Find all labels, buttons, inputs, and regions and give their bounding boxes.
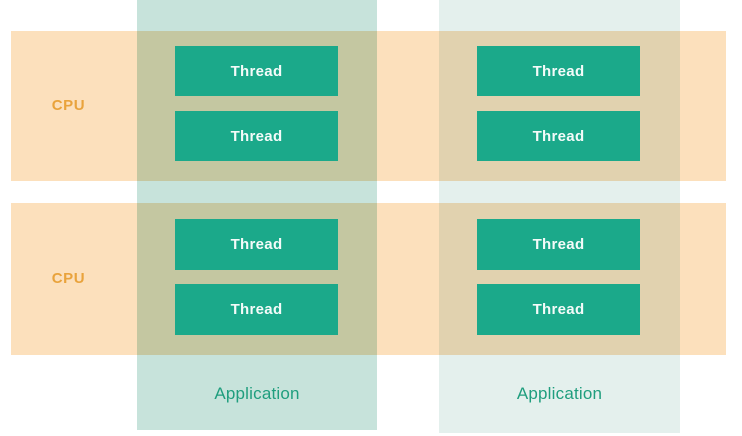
thread-label: Thread [533, 64, 585, 79]
cpu-label-2: CPU [11, 270, 126, 287]
thread-label: Thread [533, 129, 585, 144]
thread-label: Thread [231, 237, 283, 252]
thread-box: Thread [175, 219, 338, 270]
diagram-canvas: Application Application CPU CPU Thread T… [0, 0, 742, 436]
cpu-label-1: CPU [11, 97, 126, 114]
thread-box: Thread [175, 284, 338, 335]
thread-label: Thread [231, 64, 283, 79]
application-label: Application [439, 384, 680, 404]
application-label: Application [137, 384, 377, 404]
thread-box: Thread [477, 284, 640, 335]
thread-box: Thread [175, 111, 338, 161]
thread-label: Thread [231, 129, 283, 144]
thread-label: Thread [231, 302, 283, 317]
thread-box: Thread [477, 46, 640, 96]
thread-label: Thread [533, 237, 585, 252]
thread-box: Thread [477, 111, 640, 161]
thread-box: Thread [477, 219, 640, 270]
thread-label: Thread [533, 302, 585, 317]
thread-box: Thread [175, 46, 338, 96]
